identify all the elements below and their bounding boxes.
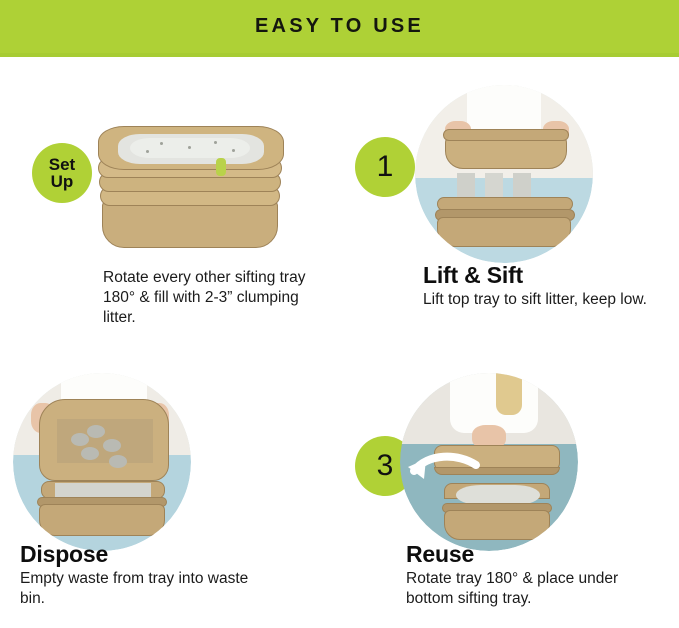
person-hair <box>496 373 522 415</box>
step-text-1: Lift & Sift Lift top tray to sift litter… <box>423 262 667 310</box>
step-panel-1: 1 Lift & Sift Lift top tray to sift litt… <box>340 57 679 342</box>
step-panel-2: 2 Dispose Empty w <box>0 343 339 628</box>
waste-clump <box>109 455 127 468</box>
step-text-setup: Rotate every other sifting tray 180° & f… <box>103 268 335 328</box>
step-text-2: Dispose Empty waste from tray into waste… <box>20 541 260 608</box>
rotate-arrow-icon <box>404 445 482 493</box>
step-body-3: Rotate tray 180° & place under bottom si… <box>406 569 658 608</box>
bottom-tray <box>444 510 550 540</box>
step-body-2: Empty waste from tray into waste bin. <box>20 569 260 608</box>
waste-clump <box>71 433 89 446</box>
badge-step-1: 1 <box>355 137 415 197</box>
dispose-photo <box>13 373 191 551</box>
person-shirt <box>450 373 538 433</box>
step-body-1: Lift top tray to sift litter, keep low. <box>423 290 667 310</box>
top-tray-rim <box>443 129 569 141</box>
bottom-tray <box>39 504 165 536</box>
step-panel-setup: Set Up Rotate eve <box>0 57 339 342</box>
badge-line-2: Up <box>49 173 75 190</box>
easy-to-use-infographic: EASY TO USE Set Up <box>0 0 679 628</box>
header-banner: EASY TO USE <box>0 0 679 53</box>
waste-clump <box>103 439 121 452</box>
litter-box-illustration <box>96 112 286 272</box>
waste-clump <box>81 447 99 460</box>
waste-clump <box>87 425 105 438</box>
step-panel-3: 3 Reuse Rotate tray 1 <box>340 343 679 628</box>
badge-line-1: Set <box>49 156 75 173</box>
reuse-photo <box>400 373 578 551</box>
bottom-tray <box>437 217 571 247</box>
badge-set-up: Set Up <box>32 143 92 203</box>
step-text-3: Reuse Rotate tray 180° & place under bot… <box>406 541 658 608</box>
steps-grid: Set Up Rotate eve <box>0 57 679 628</box>
page-title: EASY TO USE <box>255 15 424 38</box>
step-heading-3: Reuse <box>406 541 658 568</box>
lift-and-sift-photo <box>415 85 593 263</box>
step-heading-2: Dispose <box>20 541 260 568</box>
step-heading-1: Lift & Sift <box>423 262 667 289</box>
step-body-setup: Rotate every other sifting tray 180° & f… <box>103 268 335 328</box>
